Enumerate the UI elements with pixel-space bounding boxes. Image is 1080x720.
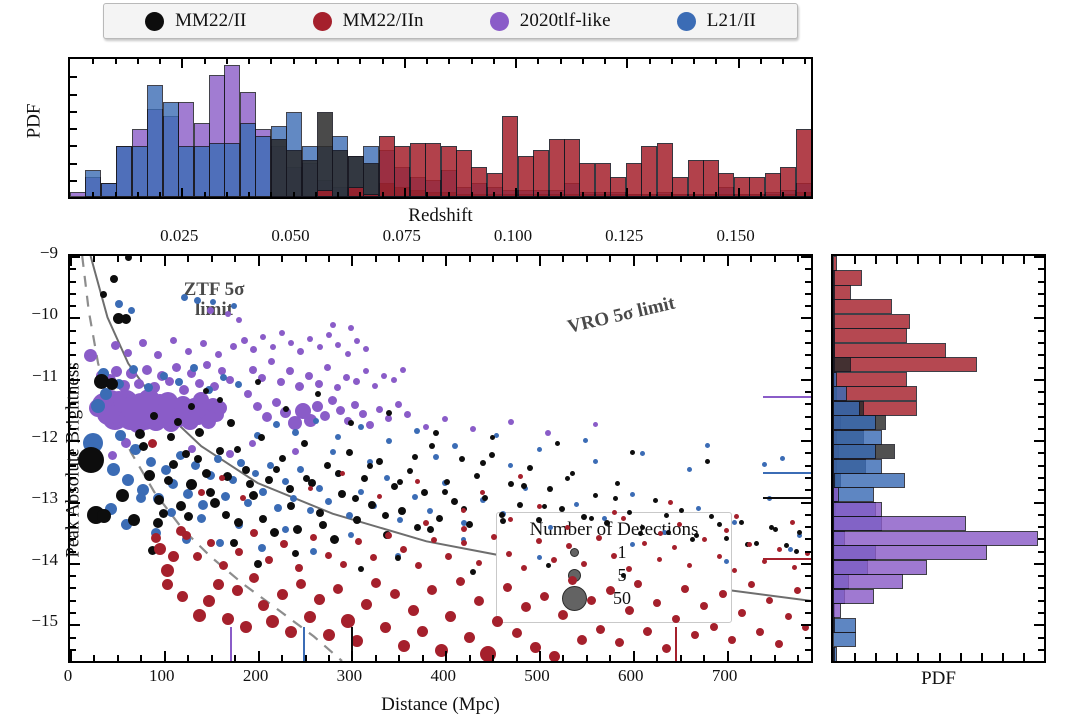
right-panel-ytick <box>1038 538 1044 540</box>
brightness-hist-bar <box>833 531 1038 546</box>
brightness-axis-tick <box>70 587 76 589</box>
distance-axis-tick <box>680 256 682 262</box>
brightness-hist-bar <box>833 343 946 358</box>
brightness-hist-bar <box>833 473 905 488</box>
redshift-axis-tick <box>226 192 228 197</box>
right-panel-ytick <box>1038 575 1044 577</box>
redshift-axis-tick <box>782 59 784 64</box>
distance-axis-tick <box>117 256 119 262</box>
right-panel-ytick <box>1038 637 1044 639</box>
scatter-point <box>377 494 382 499</box>
scatter-point <box>568 576 577 585</box>
distance-axis-tick <box>305 256 307 262</box>
scatter-point <box>128 514 140 526</box>
distance-axis-tick <box>469 256 471 262</box>
scatter-point <box>346 449 353 456</box>
brightness-axis-tick <box>805 367 811 369</box>
distance-axis-tick <box>164 256 166 266</box>
brightness-axis-tick <box>70 256 80 258</box>
brightness-axis-tick <box>801 502 811 504</box>
scatter-point <box>328 396 337 405</box>
marker-size-sample-icon <box>551 548 597 557</box>
scatter-point <box>442 416 448 422</box>
scatter-point <box>279 330 285 336</box>
scatter-point <box>503 583 512 592</box>
scatter-point <box>292 550 299 557</box>
scatter-point <box>577 635 587 645</box>
scatter-point <box>398 507 406 515</box>
scatter-point <box>170 337 177 344</box>
scatter-point <box>386 410 392 416</box>
distance-axis-tick <box>633 256 635 266</box>
brightness-axis-tick <box>70 477 76 479</box>
redshift-hist-bar <box>147 85 163 197</box>
brightness-hist-bar <box>833 632 856 647</box>
redshift-hist-bar <box>518 156 534 197</box>
distance-marker-line <box>675 627 677 661</box>
scatter-point <box>536 517 542 523</box>
brightness-hist-bar <box>833 574 903 589</box>
scatter-point <box>606 586 615 595</box>
scatter-point <box>195 379 204 388</box>
distance-axis-tick <box>703 655 705 661</box>
redshift-axis-tick <box>204 59 206 64</box>
scatter-point <box>293 525 302 534</box>
legend-item-mm22-iin: MM22/IIn <box>313 10 424 32</box>
right-panel-xtick <box>939 653 941 661</box>
redshift-axis-tick <box>693 192 695 197</box>
legend-item-label: MM22/II <box>175 10 246 32</box>
legend-item-l21-ii: L21/II <box>677 10 756 32</box>
scatter-point <box>627 510 632 515</box>
redshift-axis-tick <box>715 59 717 64</box>
scatter-point <box>476 560 482 566</box>
redshift-axis-tick <box>115 192 117 197</box>
scatter-point <box>116 489 129 502</box>
scatter-point <box>738 609 746 617</box>
right-panel-ytick <box>1038 514 1044 516</box>
brightness-axis-tick <box>70 452 76 454</box>
scatter-point <box>200 340 207 347</box>
brightness-tick-label: −11 <box>0 366 58 386</box>
scatter-point <box>456 577 465 586</box>
redshift-hist-bar <box>502 116 518 197</box>
scatter-point <box>512 628 522 638</box>
distance-axis-tick <box>375 655 377 661</box>
scatter-point <box>359 410 367 418</box>
scatter-point <box>657 557 662 562</box>
brightness-axis-tick <box>70 526 76 528</box>
redshift-histogram-plot-area <box>70 59 811 197</box>
redshift-axis-tick <box>560 59 562 64</box>
brightness-axis-tick <box>805 649 811 651</box>
distance-axis-tick <box>70 651 72 661</box>
scatter-point <box>258 434 265 441</box>
scatter-point <box>408 605 419 616</box>
redshift-axis-label: Redshift <box>68 205 813 227</box>
distance-axis-tick <box>492 256 494 262</box>
distance-axis-tick <box>750 655 752 661</box>
brightness-axis-tick <box>805 538 811 540</box>
scatter-point <box>297 348 304 355</box>
scatter-point <box>277 589 288 600</box>
scatter-point <box>521 565 527 571</box>
scatter-point <box>207 539 215 547</box>
distance-axis-tick <box>586 655 588 661</box>
brightness-marker-line <box>763 472 811 474</box>
brightness-axis-tick <box>70 575 76 577</box>
distance-axis-tick <box>305 655 307 661</box>
redshift-hist-bar <box>441 146 457 197</box>
scatter-point <box>316 485 323 492</box>
redshift-hist-bar <box>471 167 487 197</box>
scatter-point <box>190 364 198 372</box>
scatter-point <box>259 515 267 523</box>
brightness-tick-label: −9 <box>0 243 58 263</box>
scatter-point <box>581 514 587 520</box>
right-panel-xtick <box>981 653 983 661</box>
scatter-point <box>368 501 376 509</box>
redshift-hist-bar <box>425 143 441 197</box>
scatter-point <box>351 401 359 409</box>
scatter-point <box>732 568 737 573</box>
right-panel-ytick <box>1038 293 1044 295</box>
scatter-point <box>521 602 531 612</box>
scatter-point <box>687 467 692 472</box>
redshift-axis-tick <box>738 188 740 197</box>
scatter-point <box>490 435 495 440</box>
distance-axis-tick <box>281 655 283 661</box>
top-panel-ytick <box>70 145 77 147</box>
distance-axis-tick <box>422 655 424 661</box>
redshift-axis-tick <box>137 192 139 197</box>
scatter-point <box>527 465 533 471</box>
scatter-point <box>295 382 304 391</box>
redshift-axis-tick <box>426 59 428 64</box>
scatter-point <box>604 520 610 526</box>
redshift-axis-tick <box>270 192 272 197</box>
redshift-axis-tick <box>181 188 183 197</box>
brightness-axis-tick <box>805 587 811 589</box>
scatter-point <box>555 441 560 446</box>
redshift-axis-tick <box>537 192 539 197</box>
scatter-point <box>574 502 579 507</box>
redshift-axis-tick <box>270 59 272 64</box>
distance-axis-tick <box>516 655 518 661</box>
scatter-point <box>719 590 727 598</box>
brightness-axis-tick <box>805 489 811 491</box>
scatter-point <box>333 584 343 594</box>
redshift-hist-bar <box>317 112 333 197</box>
redshift-tick-label: 0.075 <box>372 226 432 246</box>
scatter-point <box>354 338 360 344</box>
right-panel-ytick <box>1038 612 1044 614</box>
distance-tick-label: 200 <box>226 666 286 686</box>
redshift-tick-label: 0.150 <box>706 226 766 246</box>
distance-axis-tick <box>703 256 705 262</box>
redshift-axis-tick <box>515 188 517 197</box>
redshift-hist-bar <box>487 173 503 197</box>
scatter-point <box>400 367 406 373</box>
brightness-axis-tick <box>805 268 811 270</box>
scatter-point <box>270 344 276 350</box>
distance-axis-tick <box>281 256 283 262</box>
scatter-point <box>427 508 433 514</box>
scatter-point <box>640 451 645 456</box>
right-panel-ytick <box>1038 452 1044 454</box>
scatter-point <box>621 516 626 521</box>
brightness-histogram-panel <box>831 254 1046 663</box>
distance-axis-tick <box>328 655 330 661</box>
scatter-point <box>431 537 437 543</box>
scatter-point <box>134 379 144 389</box>
redshift-hist-bar <box>595 163 611 197</box>
right-panel-ytick <box>1034 256 1044 258</box>
distance-tick-label: 700 <box>695 666 755 686</box>
scatter-point <box>277 378 285 386</box>
scatter-point <box>326 332 332 338</box>
redshift-hist-bar <box>796 129 811 197</box>
brightness-axis-tick <box>805 600 811 602</box>
brightness-axis-tick <box>801 563 811 565</box>
right-panel-ytick <box>1038 342 1044 344</box>
brightness-hist-bar <box>833 314 910 329</box>
brightness-hist-bar <box>833 357 835 372</box>
redshift-axis-tick <box>715 192 717 197</box>
brightness-hist-bar <box>833 401 860 416</box>
redshift-tick-labels: 0.0250.0500.0750.1000.1250.150 <box>68 226 813 248</box>
scatter-point <box>203 388 209 394</box>
scatter-point <box>625 606 634 615</box>
brightness-axis-tick <box>70 317 80 319</box>
scatter-point <box>222 511 230 519</box>
redshift-axis-tick <box>448 59 450 64</box>
scatter-point <box>353 378 360 385</box>
legend-item-label: 2020tlf-like <box>520 10 611 32</box>
brightness-axis-tick <box>70 440 80 442</box>
redshift-axis-tick <box>382 59 384 64</box>
scatter-point <box>611 553 617 559</box>
right-panel-ytick <box>1038 551 1044 553</box>
brightness-tick-label: −12 <box>0 427 58 447</box>
scatter-point <box>728 636 736 644</box>
scatter-point <box>106 378 118 390</box>
scatter-point <box>506 551 512 557</box>
distance-axis-tick <box>398 256 400 262</box>
scatter-point <box>315 380 323 388</box>
top-panel-ytick <box>70 111 77 113</box>
distance-tick-label: 600 <box>601 666 661 686</box>
brightness-axis-tick <box>805 637 811 639</box>
scatter-point <box>128 307 135 314</box>
scatter-point <box>310 534 317 541</box>
distance-axis-tick <box>258 651 260 661</box>
marker-size-legend-value: 1 <box>597 542 647 563</box>
right-panel-ytick <box>1038 416 1044 418</box>
redshift-hist-bar <box>718 173 734 197</box>
scatter-point <box>412 494 418 500</box>
brightness-axis-tick <box>70 330 76 332</box>
redshift-tick-label: 0.100 <box>483 226 543 246</box>
scatter-point <box>160 372 168 380</box>
scatter-point <box>341 614 355 628</box>
distance-axis-tick <box>234 655 236 661</box>
scatter-point <box>566 543 572 549</box>
scatter-point <box>206 488 215 497</box>
scatter-point <box>653 498 658 503</box>
distance-axis-tick <box>750 256 752 262</box>
scatter-point <box>474 596 484 606</box>
brightness-axis-tick <box>70 538 76 540</box>
scatter-point <box>198 489 205 496</box>
scatter-point <box>272 398 281 407</box>
scatter-point <box>593 459 598 464</box>
brightness-axis-tick <box>70 612 76 614</box>
redshift-axis-tick <box>471 59 473 64</box>
right-panel-ytick <box>1034 563 1044 565</box>
scatter-point <box>305 372 313 380</box>
right-panel-ytick <box>1038 428 1044 430</box>
brightness-tick-labels: −9−10−11−12−13−14−15 <box>0 254 68 663</box>
redshift-axis-tick <box>115 59 117 64</box>
redshift-hist-bar <box>564 139 580 197</box>
marker-size-legend-rows: 1550 <box>497 541 731 610</box>
redshift-axis-tick <box>315 192 317 197</box>
top-panel-ytick <box>70 76 77 78</box>
brightness-axis-tick <box>801 379 811 381</box>
scatter-point <box>330 535 339 544</box>
scatter-point <box>559 506 565 512</box>
scatter-point <box>775 640 783 648</box>
right-panel-ytick <box>1038 403 1044 405</box>
top-panel-ytick <box>70 180 77 182</box>
legend-item-label: MM22/IIn <box>343 10 424 32</box>
redshift-axis-tick <box>760 192 762 197</box>
brightness-tick-label: −13 <box>0 488 58 508</box>
brightness-hist-bar <box>833 473 835 488</box>
scatter-point <box>390 589 400 599</box>
scatter-point <box>336 406 345 415</box>
right-panel-ytick <box>1038 489 1044 491</box>
brightness-axis-tick <box>801 256 811 258</box>
redshift-hist-bar <box>749 177 765 197</box>
redshift-hist-bar <box>271 139 287 197</box>
redshift-axis-tick <box>382 192 384 197</box>
brightness-marker-line <box>763 558 811 560</box>
brightness-hist-bar <box>833 357 851 372</box>
right-panel-ytick <box>1034 317 1044 319</box>
brightness-marker-line <box>763 396 811 398</box>
brightness-hist-bar <box>833 328 835 343</box>
scatter-point <box>78 447 104 473</box>
redshift-axis-tick <box>359 192 361 197</box>
redshift-hist-bar <box>163 102 179 197</box>
scatter-point <box>705 443 710 448</box>
brightness-axis-tick <box>801 317 811 319</box>
right-panel-xtick <box>939 256 941 264</box>
scatter-point <box>262 412 272 422</box>
scatter-point <box>304 611 316 623</box>
scatter-point <box>612 510 617 515</box>
legend-marker-icon <box>677 12 696 31</box>
scatter-point <box>398 640 410 652</box>
scatter-point <box>537 504 542 509</box>
distance-axis-tick <box>633 651 635 661</box>
scatter-point <box>323 629 335 641</box>
right-panel-ytick <box>1038 268 1044 270</box>
scatter-point <box>352 495 359 502</box>
scatter-point <box>724 536 729 541</box>
redshift-hist-bar <box>317 190 333 197</box>
redshift-hist-bar <box>533 150 549 197</box>
redshift-hist-bar <box>255 136 271 197</box>
scatter-point <box>358 566 364 572</box>
scatter-point <box>274 504 282 512</box>
redshift-axis-tick <box>760 59 762 64</box>
scatter-plot-panel: ZTF 5σ limit VRO 5σ limit <box>68 254 813 663</box>
scatter-point <box>621 573 626 578</box>
scatter-point <box>382 512 389 519</box>
scatter-point <box>433 430 439 436</box>
right-panel-ytick <box>1038 354 1044 356</box>
distance-axis-tick <box>93 256 95 262</box>
scatter-point <box>499 512 505 518</box>
redshift-axis-tick <box>181 59 183 68</box>
brightness-axis-tick <box>70 624 80 626</box>
redshift-axis-tick <box>671 59 673 64</box>
brightness-axis-tick <box>70 293 76 295</box>
redshift-axis-tick <box>493 192 495 197</box>
brightness-axis-tick <box>70 489 76 491</box>
brightness-axis-tick <box>801 624 811 626</box>
redshift-hist-bar <box>194 146 210 197</box>
legend-marker-icon <box>313 12 332 31</box>
scatter-point <box>213 579 224 590</box>
legend-marker-icon <box>490 12 509 31</box>
redshift-hist-bar <box>549 139 565 197</box>
right-panel-ytick <box>1038 587 1044 589</box>
right-panel-xtick <box>981 256 983 264</box>
brightness-hist-bar <box>833 415 876 430</box>
scatter-point <box>565 525 570 530</box>
redshift-axis-tick <box>649 59 651 64</box>
right-panel-ytick <box>1038 477 1044 479</box>
brightness-hist-bar <box>833 487 874 502</box>
scatter-point <box>596 625 605 634</box>
scatter-point <box>474 473 480 479</box>
scatter-point <box>249 573 259 583</box>
brightness-axis-tick <box>805 575 811 577</box>
scatter-point <box>668 500 673 505</box>
distance-axis-tick <box>375 256 377 262</box>
redshift-axis-tick <box>626 188 628 197</box>
right-panel-ytick <box>1034 502 1044 504</box>
scatter-point <box>717 554 722 559</box>
scatter-point <box>265 476 273 484</box>
scatter-point <box>508 419 514 425</box>
scatter-point <box>320 411 330 421</box>
legend-item-2020tlf-like: 2020tlf-like <box>490 10 611 32</box>
scatter-point <box>234 446 241 453</box>
scatter-point <box>345 351 351 357</box>
brightness-hist-bar <box>833 647 835 661</box>
redshift-histogram-panel <box>68 57 813 199</box>
redshift-tick-label: 0.125 <box>594 226 654 246</box>
scatter-point <box>358 424 364 430</box>
scatter-point <box>142 365 152 375</box>
brightness-axis-tick <box>805 305 811 307</box>
brightness-axis-tick <box>805 477 811 479</box>
